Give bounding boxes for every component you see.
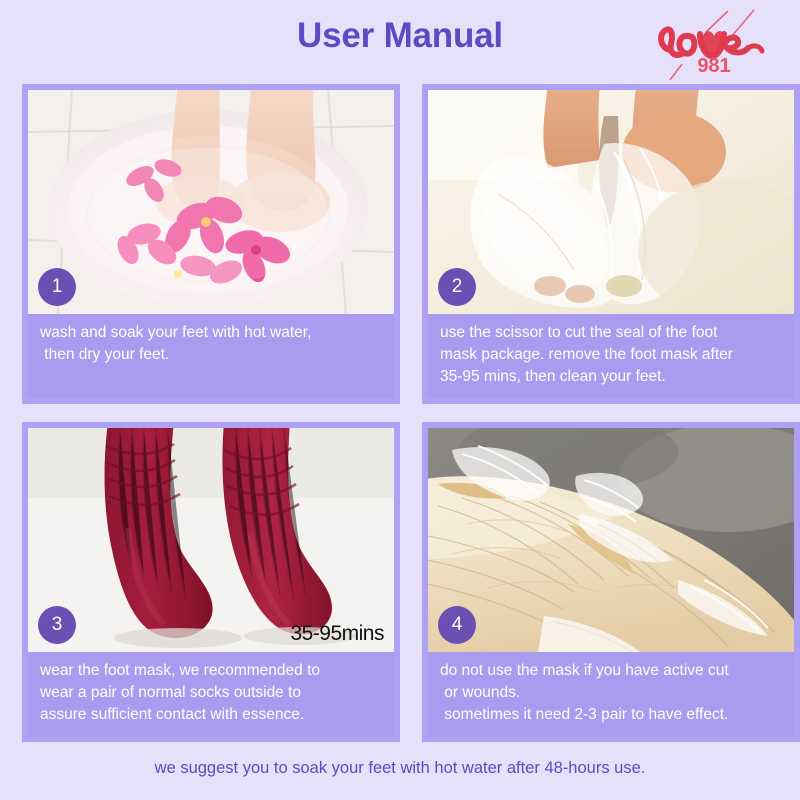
caption-line: then dry your feet. — [40, 344, 384, 366]
page-header: User Manual 981 — [0, 0, 800, 82]
caption-line: wash and soak your feet with hot water, — [40, 322, 384, 344]
step-badge-4: 4 — [438, 606, 476, 644]
step-3-duration-label: 35-95mins — [290, 622, 384, 646]
caption-line: do not use the mask if you have active c… — [440, 660, 784, 682]
step-3-photo: 3 35-95mins — [28, 428, 394, 652]
step-badge-1: 1 — [38, 268, 76, 306]
step-caption-3: wear the foot mask, we recommended to we… — [28, 652, 394, 736]
steps-grid: 1 wash and soak your feet with hot water… — [0, 84, 800, 742]
peeling-skin-closeup-image — [428, 428, 794, 652]
caption-line: use the scissor to cut the seal of the f… — [440, 322, 784, 344]
step-card-4[interactable]: 4 do not use the mask if you have active… — [422, 422, 800, 742]
caption-line: wear a pair of normal socks outside to — [40, 682, 384, 704]
step-caption-4: do not use the mask if you have active c… — [428, 652, 794, 736]
step-1-photo: 1 — [28, 90, 394, 314]
step-caption-1: wash and soak your feet with hot water, … — [28, 314, 394, 390]
red-socks-image — [28, 428, 394, 652]
caption-line: or wounds. — [440, 682, 784, 704]
caption-line: assure sufficient contact with essence. — [40, 704, 384, 726]
feet-soaking-in-basin-image — [28, 90, 394, 314]
step-4-photo: 4 — [428, 428, 794, 652]
step-card-2[interactable]: 2 use the scissor to cut the seal of the… — [422, 84, 800, 404]
caption-line: 35-95 mins, then clean your feet. — [440, 366, 784, 388]
step-caption-2: use the scissor to cut the seal of the f… — [428, 314, 794, 398]
brand-logo: 981 — [648, 6, 778, 80]
caption-line: wear the foot mask, we recommended to — [40, 660, 384, 682]
logo-number: 981 — [697, 55, 730, 77]
caption-line: mask package. remove the foot mask after — [440, 344, 784, 366]
step-2-photo: 2 — [428, 90, 794, 314]
step-badge-3: 3 — [38, 606, 76, 644]
step-card-3[interactable]: 3 35-95mins wear the foot mask, we recom… — [22, 422, 400, 742]
step-card-1[interactable]: 1 wash and soak your feet with hot water… — [22, 84, 400, 404]
feet-in-mask-booties-image — [428, 90, 794, 314]
footer-note: we suggest you to soak your feet with ho… — [0, 759, 800, 778]
caption-line: sometimes it need 2-3 pair to have effec… — [440, 704, 784, 726]
step-badge-2: 2 — [438, 268, 476, 306]
